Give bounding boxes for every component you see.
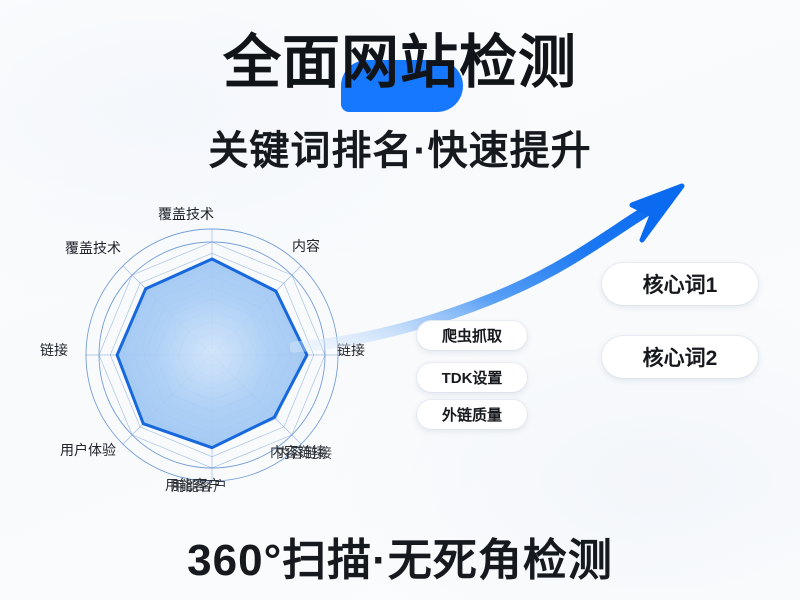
poster-canvas: 全面网站检测 关键词排名·快速提升 bbox=[0, 0, 800, 600]
radar-axis-label-6: 链接 bbox=[40, 340, 68, 360]
footer-slogan: 360°扫描·无死角检测 bbox=[0, 524, 800, 588]
feature-chip-3[interactable]: 外链质量 bbox=[417, 400, 527, 429]
keyword-chip-2[interactable]: 核心词2 bbox=[602, 336, 758, 378]
headline: 全面网站检测 bbox=[0, 34, 800, 92]
radar-axis-label-7: 覆盖技术 bbox=[65, 238, 121, 258]
feature-chip-1[interactable]: 爬虫抓取 bbox=[417, 321, 527, 350]
radar-series-polygon bbox=[117, 259, 307, 448]
subheadline: 关键词排名·快速提升 bbox=[0, 118, 800, 176]
headline-text: 全面网站检测 bbox=[223, 30, 577, 95]
headline-wrap: 全面网站检测 bbox=[223, 34, 577, 92]
feature-chip-2[interactable]: TDK设置 bbox=[417, 363, 527, 392]
radar-axis-label-5: 用户体验 bbox=[60, 440, 116, 460]
radar-axis-label-0: 覆盖技术 bbox=[158, 204, 214, 224]
radar-axis-label-3: 内容链接内容链接 bbox=[270, 442, 326, 462]
keyword-chip-1[interactable]: 核心词1 bbox=[602, 263, 758, 305]
radar-axis-label-4: 用能客户用能客户 bbox=[165, 475, 221, 495]
